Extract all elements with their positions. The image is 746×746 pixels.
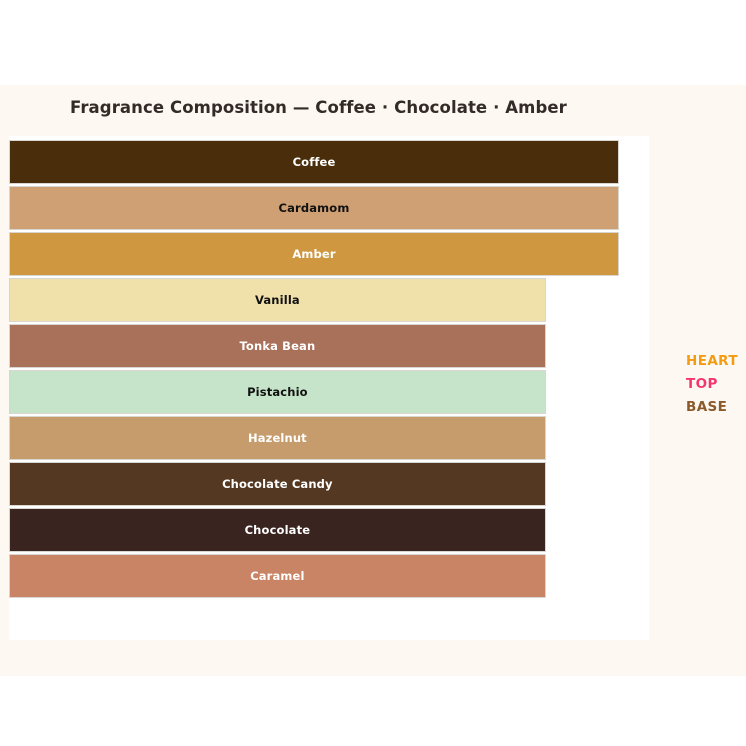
legend-item-heart[interactable]: HEART (686, 350, 744, 373)
bar-label: Hazelnut (248, 431, 307, 445)
bar-label: Caramel (250, 569, 304, 583)
bar-label: Coffee (293, 155, 336, 169)
plot-area: CoffeeCardamomAmberVanillaTonka BeanPist… (9, 136, 649, 640)
figure-canvas: Fragrance Composition — Coffee · Chocola… (0, 85, 746, 676)
bar-chocolate[interactable]: Chocolate (9, 508, 546, 552)
bar-label: Vanilla (255, 293, 300, 307)
bar-coffee[interactable]: Coffee (9, 140, 619, 184)
bar-vanilla[interactable]: Vanilla (9, 278, 546, 322)
bar-pistachio[interactable]: Pistachio (9, 370, 546, 414)
bar-caramel[interactable]: Caramel (9, 554, 546, 598)
bar-amber[interactable]: Amber (9, 232, 619, 276)
bar-label: Tonka Bean (239, 339, 315, 353)
bar-series: CoffeeCardamomAmberVanillaTonka BeanPist… (9, 136, 649, 640)
bar-label: Cardamom (279, 201, 350, 215)
legend-item-top[interactable]: TOP (686, 373, 744, 396)
bar-hazelnut[interactable]: Hazelnut (9, 416, 546, 460)
bar-chocolate-candy[interactable]: Chocolate Candy (9, 462, 546, 506)
bar-label: Pistachio (247, 385, 308, 399)
legend: HEARTTOPBASE (686, 350, 744, 419)
page-title: Fragrance Composition — Coffee · Chocola… (70, 98, 567, 117)
bar-label: Chocolate Candy (222, 477, 333, 491)
bar-label: Chocolate (245, 523, 311, 537)
bar-tonka-bean[interactable]: Tonka Bean (9, 324, 546, 368)
bar-label: Amber (292, 247, 335, 261)
legend-item-base[interactable]: BASE (686, 396, 744, 419)
bar-cardamom[interactable]: Cardamom (9, 186, 619, 230)
